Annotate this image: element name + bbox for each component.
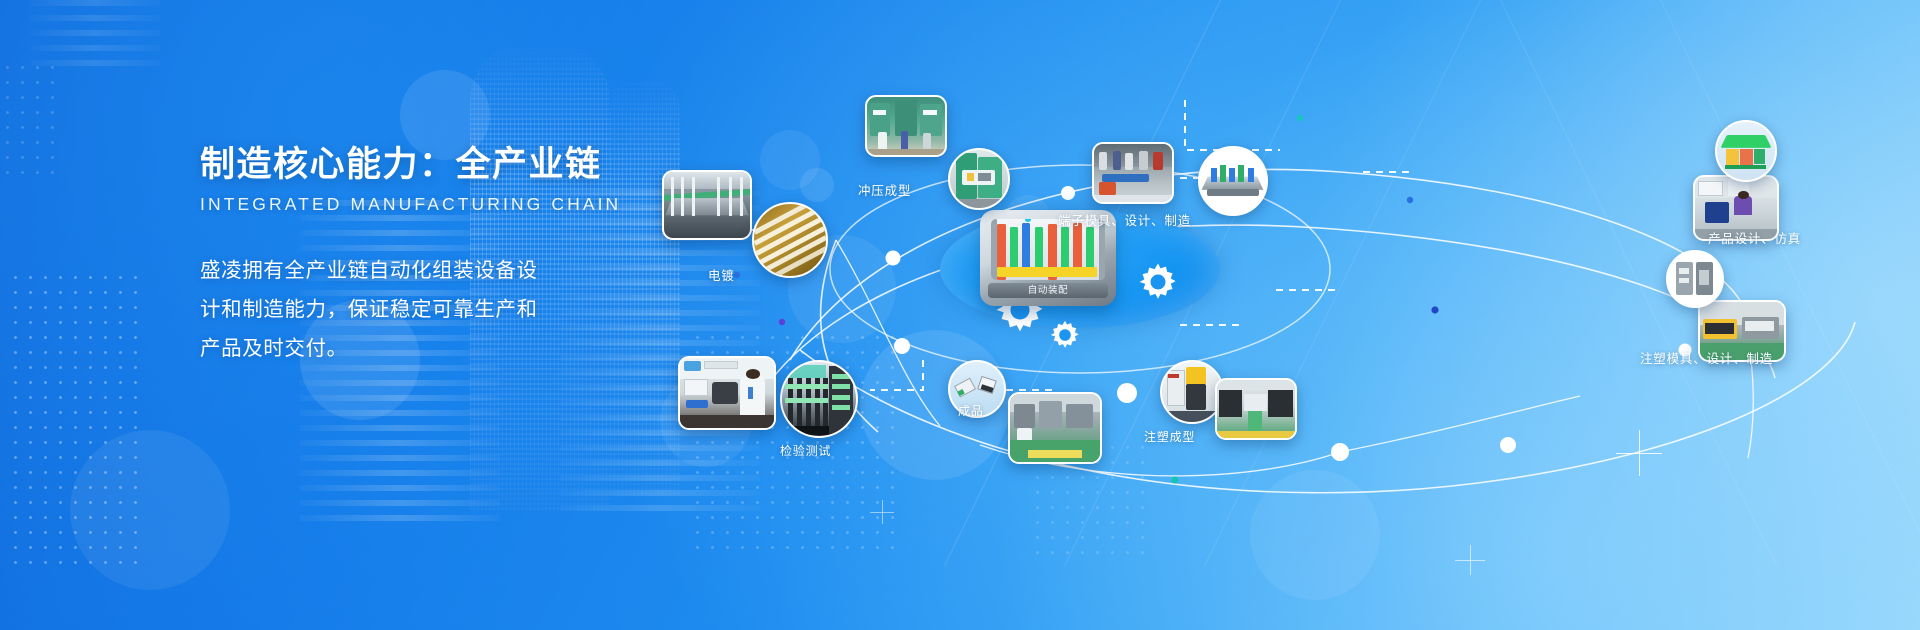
page-title: 制造核心能力：全产业链 <box>200 146 620 185</box>
node-label-injection-mold: 注塑模具、设计、制造 <box>1640 348 1773 367</box>
node-inspection[interactable] <box>780 360 858 438</box>
lab-technician-photo <box>678 356 776 430</box>
node-stamping-photo[interactable] <box>865 95 947 157</box>
banner-copy: 制造核心能力：全产业链 INTEGRATED MANUFACTURING CHA… <box>200 146 620 369</box>
decor-dot-grid <box>8 270 138 570</box>
3d-model-icon <box>1715 120 1777 182</box>
plated-terminal-strip-icon <box>752 202 828 278</box>
gear-icon <box>1136 260 1180 304</box>
mold-tool-icon <box>1666 250 1724 308</box>
node-assembly-photo[interactable] <box>1008 392 1102 464</box>
node-terminal-mold[interactable] <box>1198 146 1268 216</box>
manufacturing-chain-banner: 制造核心能力：全产业链 INTEGRATED MANUFACTURING CHA… <box>0 0 1920 630</box>
node-inspection-photo[interactable] <box>678 356 776 430</box>
node-terminal-mold-photo[interactable] <box>1092 142 1174 204</box>
node-electroplating-photo[interactable] <box>662 170 752 240</box>
node-label-terminal-mold: 端子模具、设计、制造 <box>1058 210 1191 229</box>
decor-dot-grid <box>0 60 60 180</box>
node-injection-forming-photo[interactable] <box>1215 378 1297 440</box>
node-label-product-design: 产品设计、仿真 <box>1708 228 1801 247</box>
node-electroplating[interactable] <box>752 202 828 278</box>
gear-icon <box>1048 318 1082 352</box>
node-label-finished-product: 成品 <box>958 402 984 419</box>
manufacturing-chain-diagram: 自动装配 <box>640 60 1920 580</box>
decor-blob <box>70 430 230 590</box>
stamping-workshop-photo <box>865 95 947 157</box>
conveyor-line-photo <box>1215 378 1297 440</box>
decor-square-grid <box>30 0 160 70</box>
node-stamping[interactable] <box>948 148 1010 210</box>
toolroom-photo <box>1092 142 1174 204</box>
node-label-injection-forming: 注塑成型 <box>1144 428 1195 445</box>
stamping-machine-icon <box>948 148 1010 210</box>
terminal-mold-icon <box>1198 146 1268 216</box>
test-fixture-icon <box>780 360 858 438</box>
node-label-stamping: 冲压成型 <box>858 180 911 199</box>
node-injection-mold[interactable] <box>1666 250 1724 308</box>
page-subtitle: INTEGRATED MANUFACTURING CHAIN <box>200 194 620 215</box>
node-product-design[interactable] <box>1715 120 1777 182</box>
assembly-line-photo <box>1008 392 1102 464</box>
node-label-inspection: 检验测试 <box>780 442 831 459</box>
node-label-electroplating: 电镀 <box>708 265 735 284</box>
hub-label: 自动装配 <box>980 282 1116 296</box>
banner-description: 盛凌拥有全产业链自动化组装设备设计和制造能力，保证稳定可靠生产和产品及时交付。 <box>200 251 552 369</box>
factory-line-photo <box>662 170 752 240</box>
